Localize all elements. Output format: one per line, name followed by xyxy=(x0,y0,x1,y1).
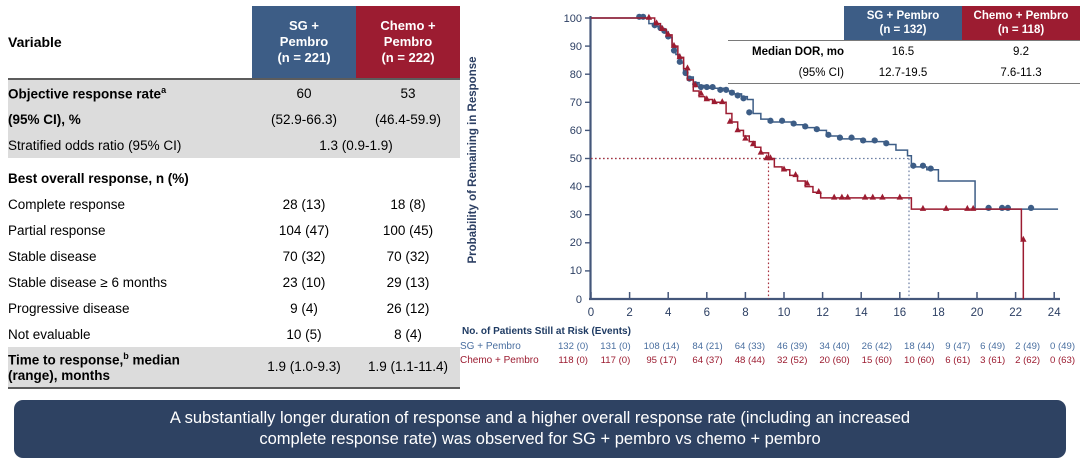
table-row: Not evaluable 10 (5) 8 (4) xyxy=(8,321,460,347)
risk-cell: 10 (60) xyxy=(898,354,940,368)
censor-marker-triangle xyxy=(844,194,850,200)
censor-marker-circle xyxy=(814,126,820,132)
row-label-objective-response-rate: Objective response ratea xyxy=(8,80,252,106)
censor-marker-circle xyxy=(709,84,715,90)
risk-cell: 0 (63) xyxy=(1045,354,1080,368)
svg-text:0: 0 xyxy=(588,307,594,319)
risk-cell: 3 (61) xyxy=(975,354,1010,368)
risk-cell: 84 (21) xyxy=(686,340,728,354)
risk-cell: 9 (47) xyxy=(940,340,975,354)
svg-text:16: 16 xyxy=(893,307,906,319)
risk-cell: 26 (42) xyxy=(856,340,898,354)
censor-marker-circle xyxy=(671,47,677,53)
censor-marker-triangle xyxy=(719,98,725,104)
censor-marker-circle xyxy=(860,137,866,143)
dor-label-median: Median DOR, mo xyxy=(728,41,844,62)
dor-header-a-line2: (n = 132) xyxy=(844,23,962,37)
svg-text:30: 30 xyxy=(570,209,582,221)
table-row: Stable disease 70 (32) 70 (32) xyxy=(8,243,460,269)
row-label-partial-response: Partial response xyxy=(8,217,252,243)
censor-marker-circle xyxy=(704,84,710,90)
risk-cell: 64 (33) xyxy=(729,340,771,354)
risk-cell: 95 (17) xyxy=(637,354,687,368)
censor-marker-triangle xyxy=(964,205,970,211)
row-label-time-to-response-2: (range), months xyxy=(8,368,252,387)
censor-marker-triangle xyxy=(862,194,868,200)
censor-marker-circle xyxy=(985,205,991,211)
risk-cell: 34 (40) xyxy=(813,340,855,354)
svg-text:2: 2 xyxy=(626,307,632,319)
risk-cell: 118 (0) xyxy=(552,354,594,368)
censor-marker-circle xyxy=(920,163,926,169)
risk-cell: 64 (37) xyxy=(686,354,728,368)
censor-marker-circle xyxy=(717,87,723,93)
svg-text:10: 10 xyxy=(570,265,582,277)
censor-marker-triangle xyxy=(943,205,949,211)
svg-text:4: 4 xyxy=(665,307,672,319)
svg-text:24: 24 xyxy=(1048,307,1061,319)
risk-table-title: No. of Patients Still at Risk (Events) xyxy=(462,326,1080,337)
y-axis-title: Probability of Remaining in Response xyxy=(467,56,479,263)
row-label-not-evaluable: Not evaluable xyxy=(8,321,252,347)
row-label-best-overall-response: Best overall response, n (%) xyxy=(8,158,252,191)
cell-empty-b xyxy=(356,158,460,191)
header-arm-b-line2: Pembro xyxy=(356,34,460,50)
censor-marker-circle xyxy=(729,90,735,96)
svg-text:100: 100 xyxy=(564,13,582,25)
header-arm-chemo-pembro: Chemo + Pembro (n = 222) xyxy=(356,6,460,79)
censor-marker-triangle xyxy=(831,194,837,200)
row-label-tail: median xyxy=(129,353,180,368)
risk-cell: 0 (49) xyxy=(1045,340,1080,354)
censor-marker-circle xyxy=(698,84,704,90)
patients-at-risk-table: No. of Patients Still at Risk (Events) S… xyxy=(460,326,1080,368)
censor-marker-circle xyxy=(746,109,752,115)
censor-marker-circle xyxy=(735,92,741,98)
table-row: Stable disease ≥ 6 months 23 (10) 29 (13… xyxy=(8,269,460,295)
risk-cell: 131 (0) xyxy=(594,340,636,354)
risk-cell: 46 (39) xyxy=(771,340,813,354)
censor-marker-triangle xyxy=(816,188,822,194)
x-axis-labels: 024 6810 121416 182022 24 xyxy=(588,307,1061,319)
censor-marker-circle xyxy=(640,14,646,20)
censor-marker-circle xyxy=(928,165,934,171)
table-row: (95% CI), % (52.9-66.3) (46.4-59.9) xyxy=(8,106,460,132)
risk-row: SG + Pembro132 (0)131 (0)108 (14)84 (21)… xyxy=(460,340,1080,354)
risk-grid: SG + Pembro132 (0)131 (0)108 (14)84 (21)… xyxy=(460,340,1080,368)
cell-partial-response-b: 100 (45) xyxy=(356,217,460,243)
cell-orr-a: 60 xyxy=(252,80,356,106)
svg-text:70: 70 xyxy=(570,97,582,109)
cell-complete-response-b: 18 (8) xyxy=(356,191,460,217)
table-row: Stratified odds ratio (95% CI) 1.3 (0.9-… xyxy=(8,132,460,158)
censor-marker-circle xyxy=(802,123,808,129)
table-header-row: Variable SG + Pembro (n = 221) Chemo + P… xyxy=(8,6,460,79)
risk-cell: 6 (49) xyxy=(975,340,1010,354)
dor-row-ci: (95% CI) 12.7-19.5 7.6-11.3 xyxy=(728,62,1080,84)
cell-empty-a xyxy=(252,158,356,191)
dor-header-a-line1: SG + Pembro xyxy=(844,9,962,23)
censor-marker-triangle xyxy=(684,64,690,70)
dor-rule-bottom xyxy=(728,84,1080,85)
censor-marker-triangle xyxy=(758,149,764,155)
censor-marker-circle xyxy=(740,95,746,101)
cell-stable-disease-a: 70 (32) xyxy=(252,243,356,269)
table-row: Complete response 28 (13) 18 (8) xyxy=(8,191,460,217)
cell-not-evaluable-a: 10 (5) xyxy=(252,321,356,347)
table-rule-bottom xyxy=(8,387,460,388)
cell-progressive-disease-b: 26 (12) xyxy=(356,295,460,321)
dor-header-b-line1: Chemo + Pembro xyxy=(962,9,1080,23)
row-label-text: Objective response rate xyxy=(8,86,161,101)
censor-marker-triangle xyxy=(792,171,798,177)
risk-cell: 48 (44) xyxy=(729,354,771,368)
cell-orr-ci-b: (46.4-59.9) xyxy=(356,106,460,132)
row-label-objective-response-rate-ci: (95% CI), % xyxy=(8,106,252,132)
svg-text:80: 80 xyxy=(570,69,582,81)
cell-stable-disease-6m-a: 23 (10) xyxy=(252,269,356,295)
kaplan-meier-figure: Probability of Remaining in Response 100… xyxy=(460,0,1080,390)
row-label-progressive-disease: Progressive disease xyxy=(8,295,252,321)
svg-text:10: 10 xyxy=(778,307,791,319)
cell-stratified-odds-ratio: 1.3 (0.9-1.9) xyxy=(252,132,460,158)
cell-orr-b: 53 xyxy=(356,80,460,106)
risk-cell: 32 (52) xyxy=(771,354,813,368)
svg-text:90: 90 xyxy=(570,41,582,53)
censor-marker-circle xyxy=(825,132,831,138)
svg-text:20: 20 xyxy=(570,237,582,249)
risk-cell: 2 (62) xyxy=(1010,354,1045,368)
header-arm-a-line3: (n = 221) xyxy=(252,50,356,66)
header-arm-sg-pembro: SG + Pembro (n = 221) xyxy=(252,6,356,79)
cell-stable-disease-b: 70 (32) xyxy=(356,243,460,269)
censor-marker-circle xyxy=(872,137,878,143)
dor-median-b: 9.2 xyxy=(962,41,1080,62)
conclusion-banner: A substantially longer duration of respo… xyxy=(14,400,1066,458)
risk-cell: 2 (49) xyxy=(1010,340,1045,354)
dor-label-ci: (95% CI) xyxy=(728,62,844,84)
risk-cell: 18 (44) xyxy=(898,340,940,354)
dor-header-b-line2: (n = 118) xyxy=(962,23,1080,37)
svg-text:22: 22 xyxy=(1009,307,1022,319)
header-arm-a-line2: Pembro xyxy=(252,34,356,50)
svg-text:18: 18 xyxy=(932,307,945,319)
censor-marker-circle xyxy=(910,163,916,169)
dor-header-row: SG + Pembro (n = 132) Chemo + Pembro (n … xyxy=(728,6,1080,41)
svg-text:50: 50 xyxy=(570,153,582,165)
banner-line-2: complete response rate) was observed for… xyxy=(14,429,1066,450)
dor-header-arm-sg-pembro: SG + Pembro (n = 132) xyxy=(844,6,962,41)
censor-marker-triangle xyxy=(734,126,740,132)
dor-ci-b: 7.6-11.3 xyxy=(962,62,1080,84)
row-label-text: Time to response, xyxy=(8,353,123,368)
censor-marker-triangle xyxy=(879,194,885,200)
svg-text:12: 12 xyxy=(816,307,829,319)
censor-marker-circle xyxy=(779,118,785,124)
table-row: Best overall response, n (%) xyxy=(8,158,460,191)
median-dor-summary-table: SG + Pembro (n = 132) Chemo + Pembro (n … xyxy=(728,6,1080,84)
cell-orr-ci-a: (52.9-66.3) xyxy=(252,106,356,132)
censor-marker-circle xyxy=(677,59,683,65)
risk-cell: 108 (14) xyxy=(637,340,687,354)
dor-header-blank xyxy=(728,6,844,41)
table-row: Partial response 104 (47) 100 (45) xyxy=(8,217,460,243)
table-row: Progressive disease 9 (4) 26 (12) xyxy=(8,295,460,321)
row-label-stable-disease: Stable disease xyxy=(8,243,252,269)
censor-marker-triangle xyxy=(646,14,652,20)
svg-text:8: 8 xyxy=(742,307,748,319)
dor-ci-a: 12.7-19.5 xyxy=(844,62,962,84)
header-variable: Variable xyxy=(8,6,252,79)
censor-marker-circle xyxy=(1028,205,1034,211)
censor-marker-triangle xyxy=(920,205,926,211)
row-label-stable-disease-6-months: Stable disease ≥ 6 months xyxy=(8,269,252,295)
banner-line-1: A substantially longer duration of respo… xyxy=(14,408,1066,429)
censor-marker-circle xyxy=(791,120,797,126)
risk-row: Chemo + Pembro118 (0)117 (0)95 (17)64 (3… xyxy=(460,354,1080,368)
header-arm-a-line1: SG + xyxy=(252,18,356,34)
row-label-time-to-response: Time to response,b median xyxy=(8,347,252,368)
dor-header-arm-chemo-pembro: Chemo + Pembro (n = 118) xyxy=(962,6,1080,41)
censor-marker-circle xyxy=(883,140,889,146)
table-row: Objective response ratea 60 53 xyxy=(8,80,460,106)
cell-time-to-response-a: 1.9 (1.0-9.3) xyxy=(252,347,356,387)
header-arm-b-line3: (n = 222) xyxy=(356,50,460,66)
censor-marker-circle xyxy=(837,135,843,141)
risk-cell: 20 (60) xyxy=(813,354,855,368)
svg-text:6: 6 xyxy=(704,307,710,319)
censor-marker-triangle xyxy=(839,194,845,200)
y-axis-ticks: 100 90 80 70 60 50 40 30 20 10 0 xyxy=(564,13,591,306)
censor-marker-circle xyxy=(723,87,729,93)
risk-cell: 6 (61) xyxy=(940,354,975,368)
cell-partial-response-a: 104 (47) xyxy=(252,217,356,243)
svg-text:14: 14 xyxy=(855,307,868,319)
header-arm-b-line1: Chemo + xyxy=(356,18,460,34)
risk-row-label: Chemo + Pembro xyxy=(460,354,552,368)
risk-cell: 15 (60) xyxy=(856,354,898,368)
cell-time-to-response-b: 1.9 (1.1-11.4) xyxy=(356,347,460,387)
figure-root: Variable SG + Pembro (n = 221) Chemo + P… xyxy=(0,0,1080,470)
dor-median-a: 16.5 xyxy=(844,41,962,62)
risk-cell: 132 (0) xyxy=(552,340,594,354)
dor-row-median: Median DOR, mo 16.5 9.2 xyxy=(728,41,1080,62)
median-reference-lines xyxy=(591,159,909,300)
censor-marker-circle xyxy=(767,118,773,124)
risk-cell: 117 (0) xyxy=(594,354,636,368)
svg-text:60: 60 xyxy=(570,125,582,137)
svg-text:0: 0 xyxy=(576,294,582,306)
response-results-table: Variable SG + Pembro (n = 221) Chemo + P… xyxy=(8,6,460,389)
row-label-stratified-odds-ratio: Stratified odds ratio (95% CI) xyxy=(8,132,252,158)
cell-not-evaluable-b: 8 (4) xyxy=(356,321,460,347)
risk-row-label: SG + Pembro xyxy=(460,340,552,354)
cell-stable-disease-6m-b: 29 (13) xyxy=(356,269,460,295)
censor-marker-circle xyxy=(999,205,1005,211)
svg-text:40: 40 xyxy=(570,181,582,193)
cell-complete-response-a: 28 (13) xyxy=(252,191,356,217)
censor-marker-circle xyxy=(848,135,854,141)
censor-marker-triangle xyxy=(897,194,903,200)
footnote-marker-a: a xyxy=(161,85,166,95)
table-row: Time to response,b median 1.9 (1.0-9.3) … xyxy=(8,347,460,368)
censor-marker-triangle xyxy=(870,194,876,200)
cell-progressive-disease-a: 9 (4) xyxy=(252,295,356,321)
row-label-complete-response: Complete response xyxy=(8,191,252,217)
svg-text:20: 20 xyxy=(971,307,984,319)
censor-marker-circle xyxy=(1005,205,1011,211)
